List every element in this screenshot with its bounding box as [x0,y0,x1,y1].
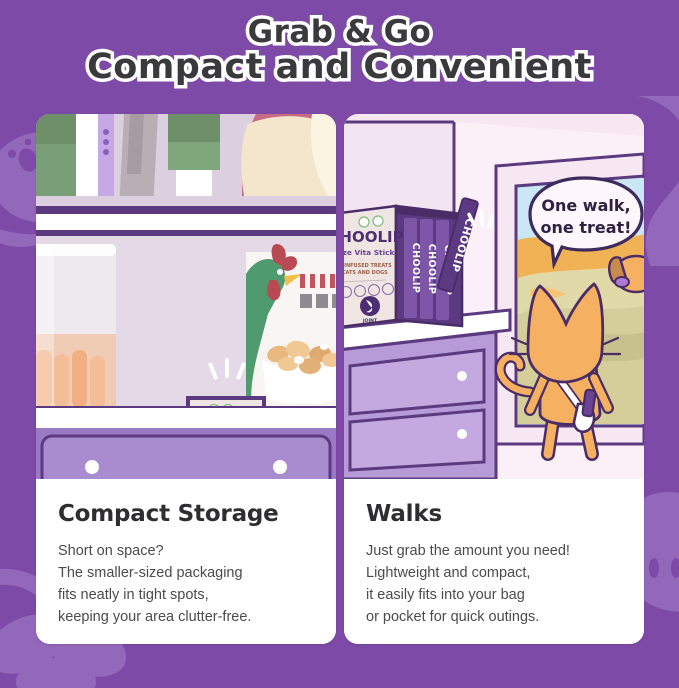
caption-line: Lightweight and compact, [366,562,624,584]
poster-canvas: Grab & Go Compact and Convenient [0,0,679,679]
svg-text:one treat!: one treat! [541,218,632,237]
svg-text:JOINT: JOINT [362,318,378,324]
svg-text:CHOOLIP: CHOOLIP [410,243,421,293]
caption-line: or pocket for quick outings. [366,606,624,628]
fridge-shelf-illustration: CHOOLIP Squeeze Vita Stick VITAMIN INFUS… [36,114,336,479]
caption-title: Walks [366,501,624,527]
caption-line: fits neatly in tight spots, [58,584,316,606]
caption-line: keeping your area clutter-free. [58,606,316,628]
feature-card-compact-storage[interactable]: CHOOLIP Squeeze Vita Stick VITAMIN INFUS… [36,114,336,644]
title-line-1: Grab & Go [0,16,679,49]
svg-text:CHOOLIP: CHOOLIP [426,244,437,294]
caption-line: The smaller-sized packaging [58,562,316,584]
caption-title: Compact Storage [58,501,316,527]
caption-line: Just grab the amount you need! [366,540,624,562]
title-line-2: Compact and Convenient [0,49,679,87]
svg-text:eze Vita Stick: eze Vita Stick [344,248,395,257]
caption-walks: Walks Just grab the amount you need! Lig… [344,479,644,644]
poster-header: Grab & Go Compact and Convenient [0,16,679,87]
caption-compact-storage: Compact Storage Short on space? The smal… [36,479,336,644]
svg-text:One walk,: One walk, [541,196,630,215]
caption-body: Short on space? The smaller-sized packag… [58,540,316,628]
feature-card-walks[interactable]: CHOOLIP eze Vita Stick IN INFUSED TREATS… [344,114,644,644]
caption-line: it easily fits into your bag [366,584,624,606]
svg-text:CHOOLIP: CHOOLIP [344,228,404,246]
caption-body: Just grab the amount you need! Lightweig… [366,540,624,628]
caption-line: Short on space? [58,540,316,562]
svg-text:R CATS AND DOGS: R CATS AND DOGS [344,270,388,276]
svg-text:IN INFUSED TREATS: IN INFUSED TREATS [344,263,392,269]
doorway-walk-illustration: CHOOLIP eze Vita Stick IN INFUSED TREATS… [344,114,644,479]
